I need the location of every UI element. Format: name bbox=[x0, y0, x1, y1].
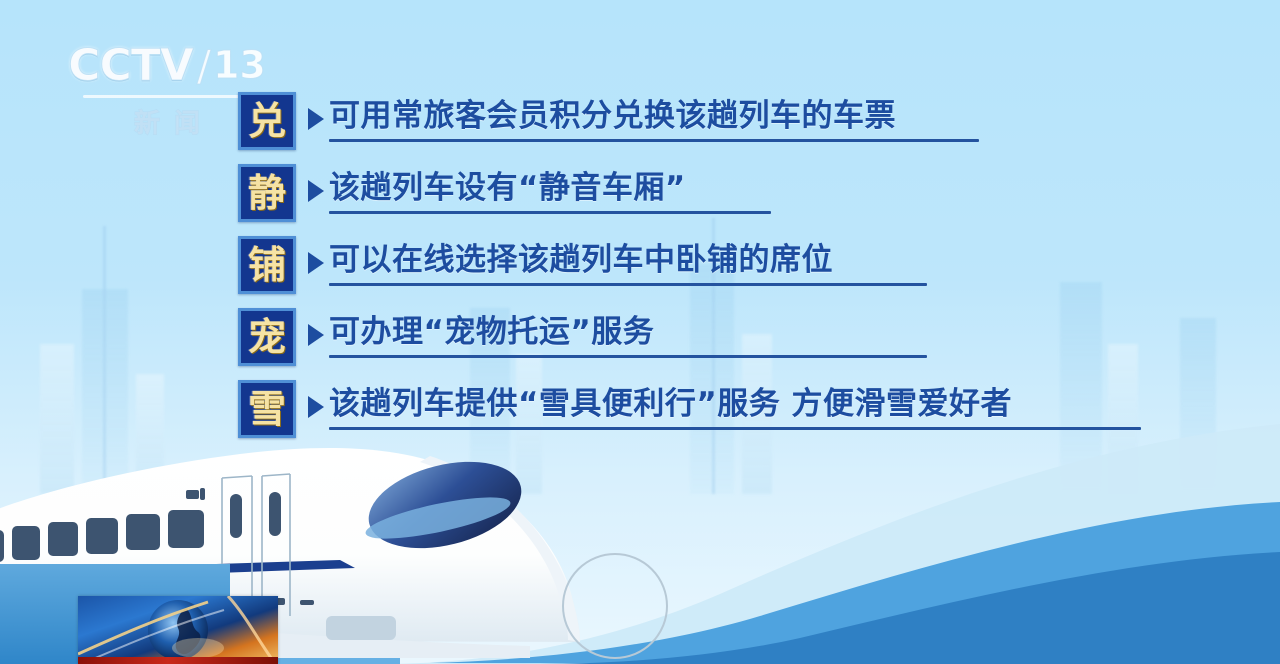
list-item: 宠 可办理“宠物托运”服务 bbox=[238, 308, 1141, 366]
badge-character: 宠 bbox=[248, 318, 286, 356]
logo-subtitle: 新闻 bbox=[72, 103, 262, 140]
list-item-underline bbox=[329, 355, 927, 358]
badge-keyword: 宠 bbox=[238, 308, 296, 366]
cctv13-logo: CCTV / 13 新闻 bbox=[72, 36, 262, 140]
list-item: 静 该趟列车设有“静音车厢” bbox=[238, 164, 1141, 222]
list-item-underline bbox=[329, 283, 927, 286]
list-item-text: 可用常旅客会员积分兑换该趟列车的车票 bbox=[329, 94, 979, 138]
badge-character: 兑 bbox=[248, 102, 286, 140]
thumbnail-red-strip bbox=[78, 657, 278, 664]
triangle-bullet-icon bbox=[308, 396, 324, 418]
logo-channel-number: 13 bbox=[213, 43, 266, 87]
badge-keyword: 兑 bbox=[238, 92, 296, 150]
list-item: 兑 可用常旅客会员积分兑换该趟列车的车票 bbox=[238, 92, 1141, 150]
badge-character: 雪 bbox=[248, 390, 286, 428]
badge-character: 静 bbox=[248, 174, 286, 212]
logo-underbar bbox=[83, 95, 251, 98]
list-item-underline bbox=[329, 427, 1141, 430]
badge-keyword: 静 bbox=[238, 164, 296, 222]
list-item-underline bbox=[329, 211, 771, 214]
badge-character: 铺 bbox=[248, 246, 286, 284]
list-item: 雪 该趟列车提供“雪具便利行”服务 方便滑雪爱好者 bbox=[238, 380, 1141, 438]
logo-wordmark: CCTV / 13 bbox=[72, 36, 262, 94]
list-item-text: 可办理“宠物托运”服务 bbox=[329, 310, 927, 354]
feature-list: 兑 可用常旅客会员积分兑换该趟列车的车票 静 该趟列车设有“静音车厢” bbox=[238, 92, 1141, 452]
badge-keyword: 铺 bbox=[238, 236, 296, 294]
triangle-bullet-icon bbox=[308, 180, 324, 202]
news-globe-thumbnail bbox=[78, 596, 278, 664]
list-item-text: 该趟列车提供“雪具便利行”服务 方便滑雪爱好者 bbox=[329, 382, 1141, 426]
list-item-text: 可以在线选择该趟列车中卧铺的席位 bbox=[329, 238, 927, 282]
logo-slash: / bbox=[197, 41, 211, 90]
logo-cctv-text: CCTV bbox=[68, 40, 193, 91]
triangle-bullet-icon bbox=[308, 324, 324, 346]
triangle-bullet-icon bbox=[308, 252, 324, 274]
triangle-bullet-icon bbox=[308, 108, 324, 130]
list-item-underline bbox=[329, 139, 979, 142]
list-item-text: 该趟列车设有“静音车厢” bbox=[329, 166, 771, 210]
list-item: 铺 可以在线选择该趟列车中卧铺的席位 bbox=[238, 236, 1141, 294]
broadcast-graphic-screen: CCTV / 13 新闻 兑 可用常旅客会员积分兑换该趟列车的车票 静 bbox=[0, 0, 1280, 664]
badge-keyword: 雪 bbox=[238, 380, 296, 438]
